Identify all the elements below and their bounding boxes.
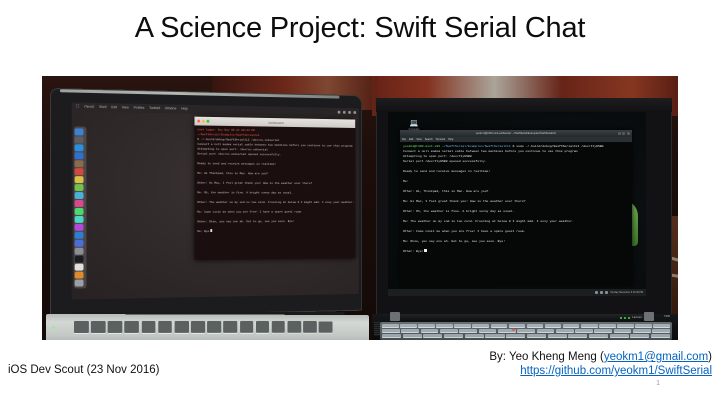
terminal-menu-help[interactable]: Help [448,137,453,142]
system-preferences-icon[interactable] [75,248,84,255]
prompt-command: $ sudo ./.build/debug/SwiftSerialCLI /de… [511,144,604,148]
terminal-menu-search[interactable]: Search [425,137,433,142]
wifi-icon[interactable] [338,111,341,114]
mac-terminal-line: Me: Bye [197,228,352,234]
keyboard-row [382,334,670,338]
page-title: A Science Project: Swift Serial Chat [0,12,720,45]
keyboard-key[interactable] [319,321,332,332]
maximize-icon[interactable] [622,132,625,135]
menu-item-0[interactable]: iTerm2 [84,103,94,112]
macbook-keyboard[interactable] [74,321,332,333]
keyboard-key[interactable] [240,321,254,333]
volume-icon[interactable] [600,291,603,294]
text-cursor [424,249,427,252]
mail-icon[interactable] [75,152,84,159]
terminal-menu-view[interactable]: View [416,137,421,142]
keyboard-key[interactable] [563,324,580,328]
mint-terminal-window-controls[interactable] [618,132,630,135]
footer-author-block: By: Yeo Kheng Meng (yeokm1@gmail.com) ht… [489,350,712,378]
thinkpad-keyboard[interactable] [380,322,672,340]
keyboard-key[interactable] [440,329,458,333]
keyboard-key[interactable] [635,324,652,328]
keyboard-key[interactable] [517,329,535,333]
thinkpad-model-label: T400 [664,315,670,318]
keyboard-key[interactable] [74,321,88,333]
mac-terminal-window[interactable]: SwiftSerialCLI Last login: Sun Nov 06 at… [194,117,355,261]
thinkpad-screen: 💻 Computer m yeokm1@t400-mint-swiftseria… [388,112,646,296]
terminal-menu-file[interactable]: File [402,137,406,142]
keyboard-key[interactable] [537,329,555,333]
menu-item-6[interactable]: Window [165,104,176,113]
network-icon[interactable] [595,291,598,294]
taskbar-clock[interactable]: Sunday November 6 22:46 PM [610,291,643,294]
keyboard-key[interactable] [207,321,221,333]
keyboard-row [382,324,670,328]
keyboard-key[interactable] [630,334,649,338]
calendar-icon[interactable] [75,168,84,175]
macbook-screen:  iTerm2 Shell Edit View Profiles Toolbe… [72,102,359,299]
menu-item-4[interactable]: Profiles [134,104,145,113]
mint-terminal-line: Other: Bye! [403,249,629,254]
keyboard-key[interactable] [465,334,484,338]
close-icon[interactable] [627,132,630,135]
notes-icon[interactable] [75,176,84,183]
keyboard-key[interactable] [125,321,139,333]
keyboard-key[interactable] [491,324,508,328]
keyboard-key[interactable] [610,334,629,338]
facetime-icon[interactable] [75,216,84,223]
keyboard-key[interactable] [454,324,471,328]
keyboard-key[interactable] [556,329,574,333]
chrome-icon[interactable] [75,264,84,271]
keyboard-key[interactable] [581,324,598,328]
itunes-icon[interactable] [75,224,84,231]
computer-icon: 💻 [402,120,426,128]
mac-terminal-title: SwiftSerialCLI [194,119,355,126]
keyboard-key[interactable] [527,324,544,328]
mac-terminal-line: Other: The weather on my end is too cold… [197,200,352,205]
menu-item-3[interactable]: View [122,103,129,112]
photos-icon[interactable] [75,200,84,207]
keyboard-key[interactable] [382,324,399,328]
keyboard-key[interactable] [400,324,417,328]
keyboard-key[interactable] [545,324,562,328]
keyboard-key[interactable] [594,329,612,333]
keyboard-key[interactable] [614,329,632,333]
terminal-icon[interactable] [75,256,84,263]
drive-led [628,317,630,319]
apple-menu-icon[interactable]:  [76,103,80,112]
keyboard-key[interactable] [485,334,504,338]
keyboard-key[interactable] [506,334,525,338]
keyboard-key[interactable] [436,324,453,328]
keyboard-key[interactable] [108,321,122,333]
keyboard-key[interactable] [459,329,477,333]
trackpoint-icon[interactable] [512,328,515,331]
keyboard-key[interactable] [599,324,616,328]
terminal-menu-terminal[interactable]: Terminal [436,137,445,142]
keyboard-key[interactable] [256,321,270,333]
slide-number: 1 [656,380,660,387]
menu-item-2[interactable]: Edit [111,103,117,112]
author-email-link[interactable]: yeokm1@gmail.com [604,351,708,363]
keyboard-key[interactable] [651,334,670,338]
keyboard-key[interactable] [421,329,439,333]
battery-icon[interactable] [343,111,346,114]
footer-by-suffix: ) [708,351,712,363]
keyboard-key[interactable] [141,321,155,333]
text-cursor [210,229,212,232]
footer-author-line: By: Yeo Kheng Meng (yeokm1@gmail.com) [489,350,712,364]
keyboard-key[interactable] [423,334,442,338]
appstore-icon[interactable] [75,232,84,239]
launchpad-icon[interactable] [75,136,84,143]
keyboard-key[interactable] [589,334,608,338]
clock-icon[interactable] [348,111,351,114]
keyboard-key[interactable] [175,321,189,333]
keyboard-key[interactable] [479,329,497,333]
macbook-pro:  iTerm2 Shell Edit View Profiles Toolbe… [42,88,386,340]
menu-item-1[interactable]: Shell [99,103,106,112]
repo-url-link[interactable]: https://github.com/yeokm1/SwiftSerial [520,365,712,377]
macbook-lid:  iTerm2 Shell Edit View Profiles Toolbe… [50,88,362,318]
xcode-icon[interactable] [75,240,84,247]
thinkpad-brand-label: Lenovo [632,316,642,319]
keyboard-key[interactable] [382,334,401,338]
maps-icon[interactable] [75,192,84,199]
macbook-lid-edge [60,89,340,98]
footer-repo-line: https://github.com/yeokm1/SwiftSerial [489,364,712,378]
keyboard-key[interactable] [224,321,238,333]
keyboard-key[interactable] [444,334,463,338]
keyboard-key[interactable] [288,321,301,333]
macos-dock[interactable] [74,126,87,288]
mint-terminal-titlebar[interactable]: yeokm1@t400-mint-swiftserial : ~/SwiftSe… [400,130,632,137]
mac-terminal-output: Last login: Sun Nov 06 at 00:44 PM~/Swif… [194,125,355,236]
menu-item-7[interactable]: Help [181,105,188,114]
keyboard-key[interactable] [568,334,587,338]
keyboard-key[interactable] [91,321,105,333]
keyboard-key[interactable] [617,324,634,328]
keyboard-key[interactable] [403,334,422,338]
photo-two-laptops-serial-chat:  iTerm2 Shell Edit View Profiles Toolbe… [42,76,678,340]
trash-icon[interactable] [75,279,84,286]
macbook-sleep-led [52,326,55,329]
lenovo-thinkpad: 💻 Computer m yeokm1@t400-mint-swiftseria… [372,76,678,340]
mint-terminal-title: yeokm1@t400-mint-swiftserial : ~/SwiftSe… [400,130,632,137]
update-icon[interactable] [605,291,608,294]
messages-icon[interactable] [75,208,84,215]
spotlight-icon[interactable] [353,111,356,114]
keyboard-key[interactable] [527,334,546,338]
thinkpad-bezel [376,98,672,112]
macos-menubar-status-area [338,108,356,117]
keyboard-key[interactable] [401,329,419,333]
keyboard-key[interactable] [652,329,670,333]
prompt-user: yeokm1@t400-mint-x86 [403,144,442,148]
keyboard-key[interactable] [633,329,651,333]
contacts-icon[interactable] [75,160,84,167]
keyboard-row [382,329,670,333]
keyboard-key[interactable] [575,329,593,333]
mint-terminal-output: yeokm1@t400-mint-x86 ~/SwiftSerial/Examp… [400,142,632,256]
keyboard-key[interactable] [653,324,670,328]
keyboard-key[interactable] [509,324,526,328]
thinkpad-status-strip: Lenovo [398,314,648,321]
vlc-icon[interactable] [75,272,84,279]
battery-led [624,317,626,319]
power-led [620,317,622,319]
menu-item-5[interactable]: Toolbelt [149,104,160,113]
finder-icon[interactable] [75,128,84,135]
reminders-icon[interactable] [75,184,84,191]
keyboard-key[interactable] [382,329,400,333]
keyboard-key[interactable] [418,324,435,328]
minimize-icon[interactable] [618,132,621,135]
keyboard-key[interactable] [158,321,172,333]
thinkpad-hinge-right [644,312,654,321]
terminal-menu-edit[interactable]: Edit [409,137,413,142]
prompt-path: ~/SwiftSerial/Examples/SwiftSerialCLI [442,144,511,148]
footer-event-label: iOS Dev Scout (23 Nov 2016) [8,364,160,376]
keyboard-key[interactable] [472,324,489,328]
keyboard-key[interactable] [272,321,285,333]
mint-terminal-window[interactable]: yeokm1@t400-mint-swiftserial : ~/SwiftSe… [400,130,632,286]
mint-taskbar[interactable]: Sunday November 6 22:46 PM [388,289,646,296]
keyboard-key[interactable] [303,321,316,333]
thinkpad-hinge-left [390,312,400,321]
keyboard-key[interactable] [548,334,567,338]
safari-icon[interactable] [75,144,84,151]
footer-by-prefix: By: Yeo Kheng Meng ( [489,351,603,363]
keyboard-key[interactable] [191,321,205,333]
